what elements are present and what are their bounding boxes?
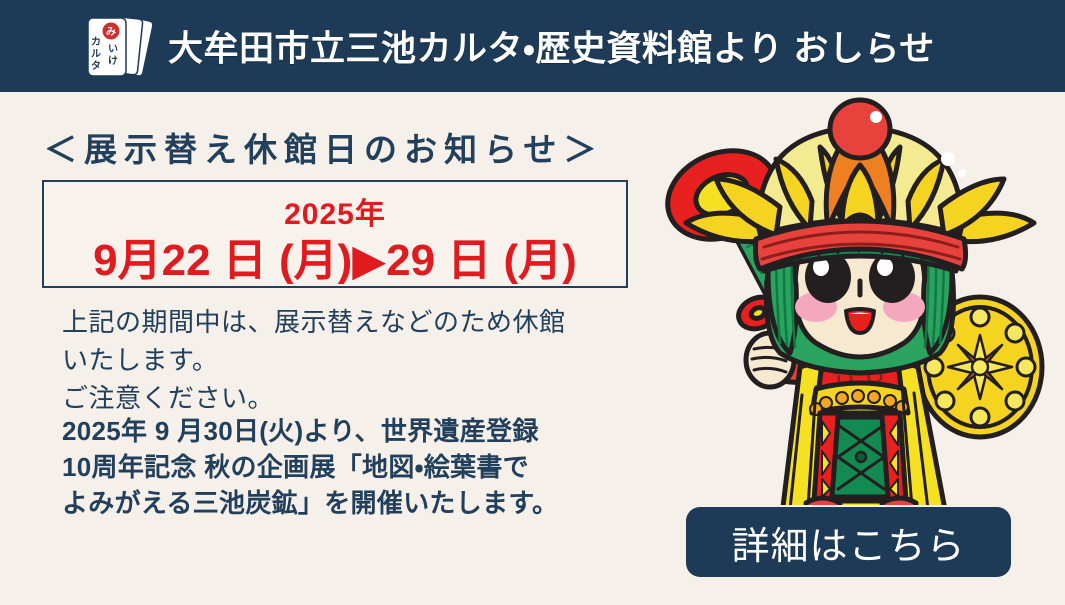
notice-poster: み カ ル タ い け 大牟田市立三池カルタ・歴史資料館より おしらせ ＜展示替… bbox=[0, 0, 1065, 605]
karuta-cards-icon: み カ ル タ い け bbox=[80, 14, 152, 80]
closure-description-line: 上記の期間中は、展示替えなどのため休館 bbox=[62, 303, 642, 341]
notice-subtitle: ＜展示替え休館日のお知らせ＞ bbox=[44, 123, 603, 171]
closure-description: 上記の期間中は、展示替えなどのため休館 いたします。 ご注意ください。 bbox=[62, 303, 642, 417]
robe bbox=[782, 356, 946, 505]
svg-text:ル: ル bbox=[91, 49, 101, 60]
closure-period: 9月22 日 (月)▶29 日 (月) bbox=[44, 224, 626, 288]
details-button-label: 詳細はこちら bbox=[731, 515, 965, 570]
svg-text:け: け bbox=[108, 55, 118, 67]
exhibition-announcement-line: よみがえる三池炭鉱」を開催いたします。 bbox=[62, 485, 642, 521]
closure-date-box: 2025年 9月22 日 (月)▶29 日 (月) bbox=[42, 180, 628, 288]
exhibition-announcement-line: 10周年記念 秋の企画展「地図・絵葉書で bbox=[62, 449, 642, 485]
closure-description-line: ご注意ください。 bbox=[62, 379, 642, 417]
header-bar: み カ ル タ い け 大牟田市立三池カルタ・歴史資料館より おしらせ bbox=[0, 0, 1065, 92]
details-button[interactable]: 詳細はこちら bbox=[686, 507, 1011, 577]
exhibition-announcement: 2025年 9 月30日(火)より、世界遺産登録 10周年記念 秋の企画展「地図… bbox=[62, 413, 642, 521]
svg-text:い: い bbox=[108, 44, 118, 55]
page-title: 大牟田市立三池カルタ・歴史資料館より おしらせ bbox=[168, 21, 935, 72]
closure-description-line: いたします。 bbox=[62, 341, 642, 379]
mascot-illustration bbox=[650, 95, 1065, 505]
exhibition-announcement-line: 2025年 9 月30日(火)より、世界遺産登録 bbox=[62, 413, 642, 449]
svg-text:み: み bbox=[106, 26, 116, 38]
svg-text:タ: タ bbox=[91, 60, 101, 72]
svg-text:カ: カ bbox=[91, 36, 101, 48]
